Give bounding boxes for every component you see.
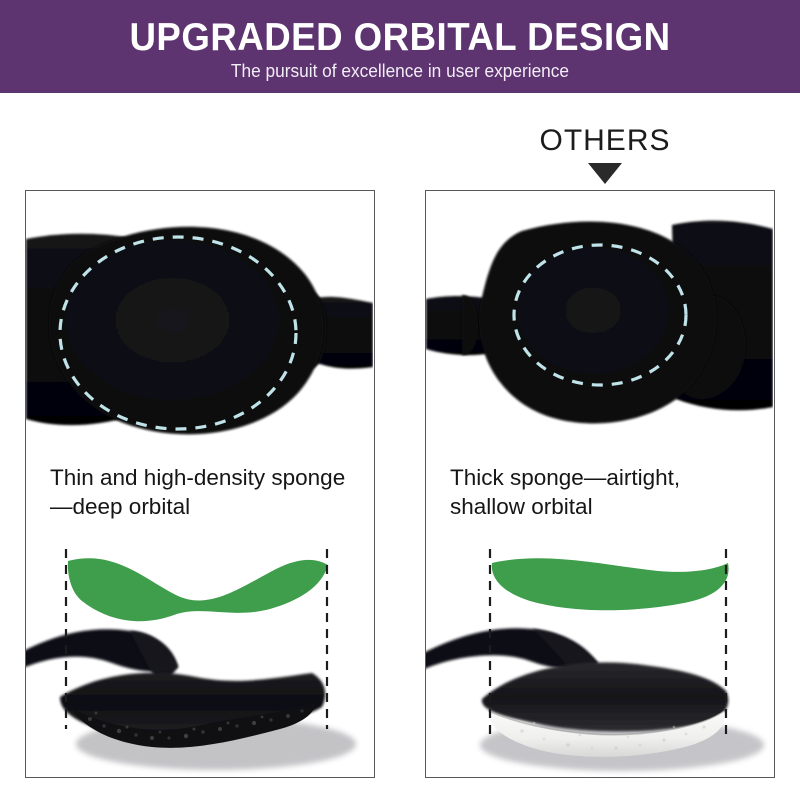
header-banner: UPGRADED ORBITAL DESIGN The pursuit of e…	[0, 0, 800, 93]
mask-photo-shallow-orbital	[426, 191, 774, 453]
others-label: OTHERS	[505, 124, 705, 158]
profile-diagram-svg-wavy	[26, 539, 373, 778]
mask-front-view-svg-others	[426, 191, 773, 453]
profile-diagram-upgraded	[26, 539, 374, 778]
mask-eye-cup	[479, 222, 716, 424]
mask-front-view-svg	[26, 191, 373, 453]
mask-photo-deep-orbital	[26, 191, 374, 453]
panel-caption-others: Thick sponge—airtight, shallow orbital	[450, 463, 756, 521]
profile-diagram-svg-crescent	[426, 539, 773, 778]
comparison-panel-others: Thick sponge—airtight, shallow orbital	[425, 190, 775, 778]
profile-diagram-others	[426, 539, 774, 778]
triangle-down-icon	[588, 163, 622, 184]
page-title: UPGRADED ORBITAL DESIGN	[24, 16, 776, 60]
comparison-panel-upgraded: Thin and high-density sponge—deep orbita…	[25, 190, 375, 778]
infographic-root: UPGRADED ORBITAL DESIGN The pursuit of e…	[0, 0, 800, 800]
page-subtitle: The pursuit of excellence in user experi…	[16, 60, 784, 82]
panel-caption-upgraded: Thin and high-density sponge—deep orbita…	[50, 463, 356, 521]
mask-eye-cup	[49, 227, 324, 435]
